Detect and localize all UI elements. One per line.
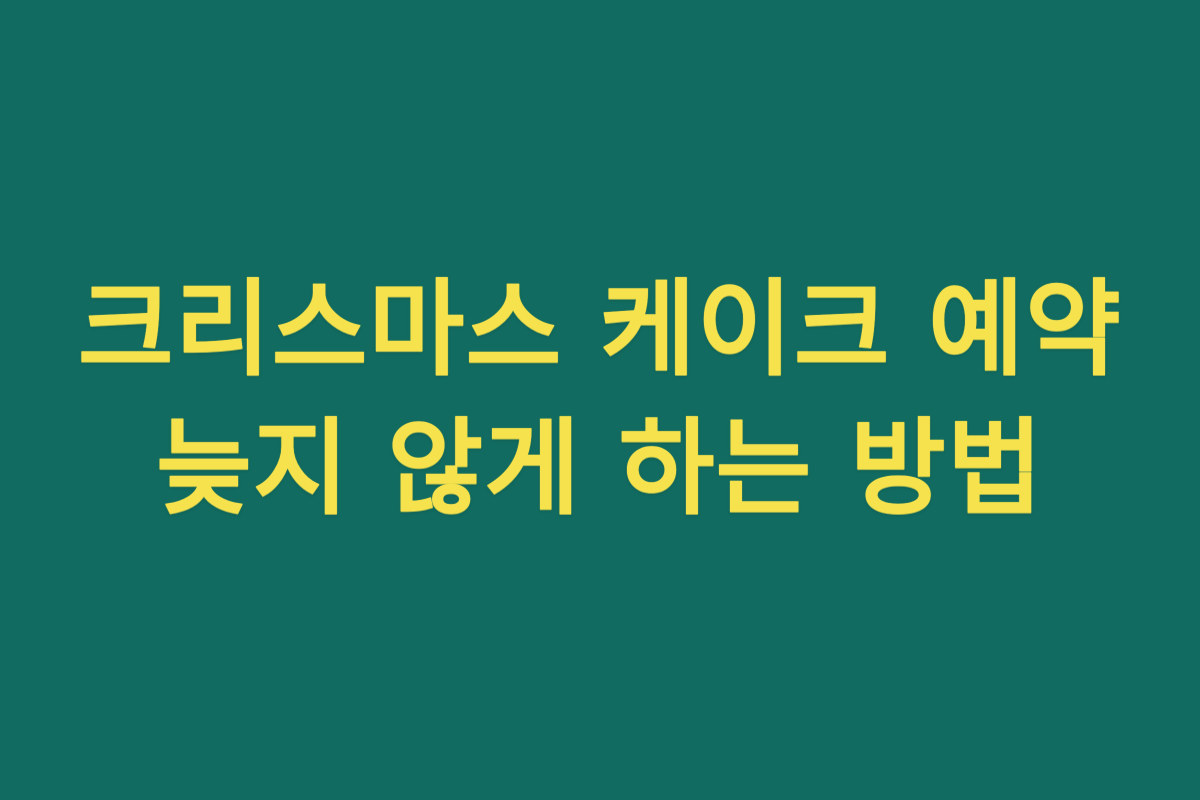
headline-line-1: 크리스마스 케이크 예약 (0, 260, 1200, 399)
headline-line-2: 늦지 않게 하는 방법 (0, 399, 1200, 538)
headline-block: 크리스마스 케이크 예약 늦지 않게 하는 방법 (0, 260, 1200, 539)
title-card-canvas: 크리스마스 케이크 예약 늦지 않게 하는 방법 (0, 0, 1200, 800)
